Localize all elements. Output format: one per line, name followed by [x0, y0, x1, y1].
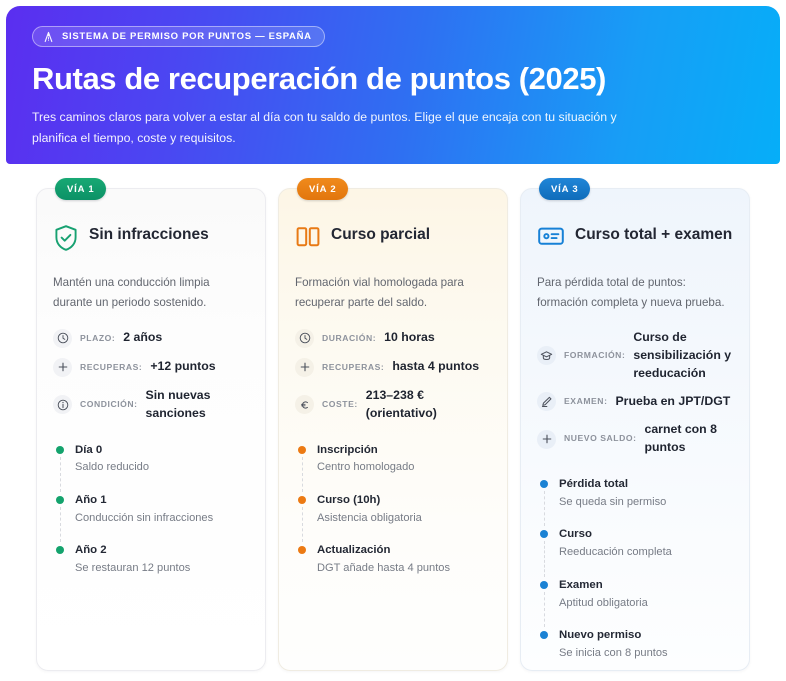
timeline-item: Curso (10h) Asistencia obligatoria: [298, 493, 491, 543]
route-card-via-1[interactable]: VÍA 1 Sin infracciones Mantén una conduc…: [36, 188, 266, 671]
card-title: Curso parcial: [331, 223, 430, 245]
spec-key: RECUPERAS:: [322, 362, 384, 374]
route-card-via-3[interactable]: VÍA 3 Curso total + examen Para pérdida …: [520, 188, 750, 671]
card-spec-rows: FORMACIÓN: Curso de sensibilización y re…: [537, 329, 733, 457]
spec-value: 213–238 € (orientativo): [366, 387, 491, 423]
card-badge: VÍA 2: [297, 178, 348, 200]
timeline-title: Pérdida total: [559, 477, 733, 492]
spec-key: DURACIÓN:: [322, 333, 376, 345]
spec-value: hasta 4 puntos: [392, 358, 479, 376]
card-timeline: Inscripción Centro homologado Curso (10h…: [295, 443, 491, 577]
timeline-item: Día 0 Saldo reducido: [56, 443, 249, 493]
spec-row: RECUPERAS: +12 puntos: [53, 358, 249, 377]
spec-key: NUEVO SALDO:: [564, 433, 637, 445]
timeline-item: Nuevo permiso Se inicia con 8 puntos: [540, 628, 733, 661]
plus-icon: [53, 358, 72, 377]
timeline-desc: Asistencia obligatoria: [317, 511, 491, 527]
spec-key: COSTE:: [322, 399, 358, 411]
timeline-item: Pérdida total Se queda sin permiso: [540, 477, 733, 527]
spec-row: NUEVO SALDO: carnet con 8 puntos: [537, 421, 733, 457]
timeline-title: Examen: [559, 578, 733, 593]
plus-icon: [537, 430, 556, 449]
timeline-item: Curso Reeducación completa: [540, 527, 733, 577]
timeline-desc: Se queda sin permiso: [559, 495, 733, 511]
timeline-title: Año 1: [75, 493, 249, 508]
page-subtitle: Tres caminos claros para volver a estar …: [32, 107, 642, 148]
spec-row: CONDICIÓN: Sin nuevas sanciones: [53, 387, 249, 423]
page-title: Rutas de recuperación de puntos (2025): [32, 62, 754, 97]
id-card-icon: [537, 224, 565, 253]
card-description: Formación vial homologada para recuperar…: [295, 273, 491, 313]
timeline-desc: Centro homologado: [317, 460, 491, 476]
plus-icon: [295, 358, 314, 377]
hero-eyebrow-badge: SISTEMA DE PERMISO POR PUNTOS — ESPAÑA: [32, 26, 325, 47]
route-card-list: VÍA 1 Sin infracciones Mantén una conduc…: [6, 188, 780, 671]
timeline-item: Actualización DGT añade hasta 4 puntos: [298, 543, 491, 576]
route-card-via-2[interactable]: VÍA 2 Curso parcial Formación vial homol…: [278, 188, 508, 671]
spec-value: carnet con 8 puntos: [645, 421, 734, 457]
shield-check-icon: [53, 224, 79, 257]
timeline-desc: DGT añade hasta 4 puntos: [317, 561, 491, 577]
card-header: Sin infracciones: [53, 223, 249, 257]
timeline-desc: Conducción sin infracciones: [75, 511, 249, 527]
spec-key: RECUPERAS:: [80, 362, 142, 374]
timeline-desc: Reeducación completa: [559, 545, 733, 561]
spec-row: PLAZO: 2 años: [53, 329, 249, 348]
timeline-title: Inscripción: [317, 443, 491, 458]
spec-value: 2 años: [123, 329, 162, 347]
spec-key: FORMACIÓN:: [564, 350, 625, 362]
spec-row: COSTE: 213–238 € (orientativo): [295, 387, 491, 423]
coin-euro-icon: [295, 395, 314, 414]
clock-icon: [53, 329, 72, 348]
road-sign-icon: [42, 31, 55, 43]
spec-value: Curso de sensibilización y reeducación: [633, 329, 733, 382]
timeline-desc: Saldo reducido: [75, 460, 249, 476]
timeline-title: Curso (10h): [317, 493, 491, 508]
spec-value: Sin nuevas sanciones: [146, 387, 249, 423]
spec-value: Prueba en JPT/DGT: [615, 393, 730, 411]
card-badge: VÍA 3: [539, 178, 590, 200]
card-description: Para pérdida total de puntos: formación …: [537, 273, 733, 313]
spec-row: FORMACIÓN: Curso de sensibilización y re…: [537, 329, 733, 382]
graduation-cap-icon: [537, 346, 556, 365]
pen-icon: [537, 392, 556, 411]
spec-row: DURACIÓN: 10 horas: [295, 329, 491, 348]
timeline-item: Inscripción Centro homologado: [298, 443, 491, 493]
spec-key: PLAZO:: [80, 333, 115, 345]
timeline-title: Año 2: [75, 543, 249, 558]
card-spec-rows: PLAZO: 2 años RECUPERAS: +12 puntos: [53, 329, 249, 423]
timeline-desc: Se inicia con 8 puntos: [559, 646, 733, 662]
timeline-desc: Aptitud obligatoria: [559, 596, 733, 612]
spec-value: 10 horas: [384, 329, 435, 347]
spec-key: CONDICIÓN:: [80, 399, 138, 411]
hero-banner: SISTEMA DE PERMISO POR PUNTOS — ESPAÑA R…: [6, 6, 780, 164]
timeline-item: Año 2 Se restauran 12 puntos: [56, 543, 249, 576]
spec-row: EXAMEN: Prueba en JPT/DGT: [537, 392, 733, 411]
page-root: SISTEMA DE PERMISO POR PUNTOS — ESPAÑA R…: [0, 6, 786, 681]
spec-value: +12 puntos: [150, 358, 215, 376]
card-title: Sin infracciones: [89, 223, 209, 245]
open-book-icon: [295, 224, 321, 255]
timeline-item: Año 1 Conducción sin infracciones: [56, 493, 249, 543]
card-description: Mantén una conducción limpia durante un …: [53, 273, 249, 313]
info-icon: [53, 395, 72, 414]
card-header: Curso parcial: [295, 223, 491, 257]
spec-key: EXAMEN:: [564, 396, 607, 408]
timeline-item: Examen Aptitud obligatoria: [540, 578, 733, 628]
timeline-title: Nuevo permiso: [559, 628, 733, 643]
timeline-title: Curso: [559, 527, 733, 542]
hero-eyebrow-label: SISTEMA DE PERMISO POR PUNTOS — ESPAÑA: [62, 31, 312, 42]
card-badge: VÍA 1: [55, 178, 106, 200]
timeline-title: Actualización: [317, 543, 491, 558]
clock-icon: [295, 329, 314, 348]
card-timeline: Pérdida total Se queda sin permiso Curso…: [537, 477, 733, 661]
card-timeline: Día 0 Saldo reducido Año 1 Conducción si…: [53, 443, 249, 577]
card-header: Curso total + examen: [537, 223, 733, 257]
timeline-desc: Se restauran 12 puntos: [75, 561, 249, 577]
card-spec-rows: DURACIÓN: 10 horas RECUPERAS: hasta 4 pu…: [295, 329, 491, 423]
card-title: Curso total + examen: [575, 223, 732, 245]
spec-row: RECUPERAS: hasta 4 puntos: [295, 358, 491, 377]
timeline-title: Día 0: [75, 443, 249, 458]
